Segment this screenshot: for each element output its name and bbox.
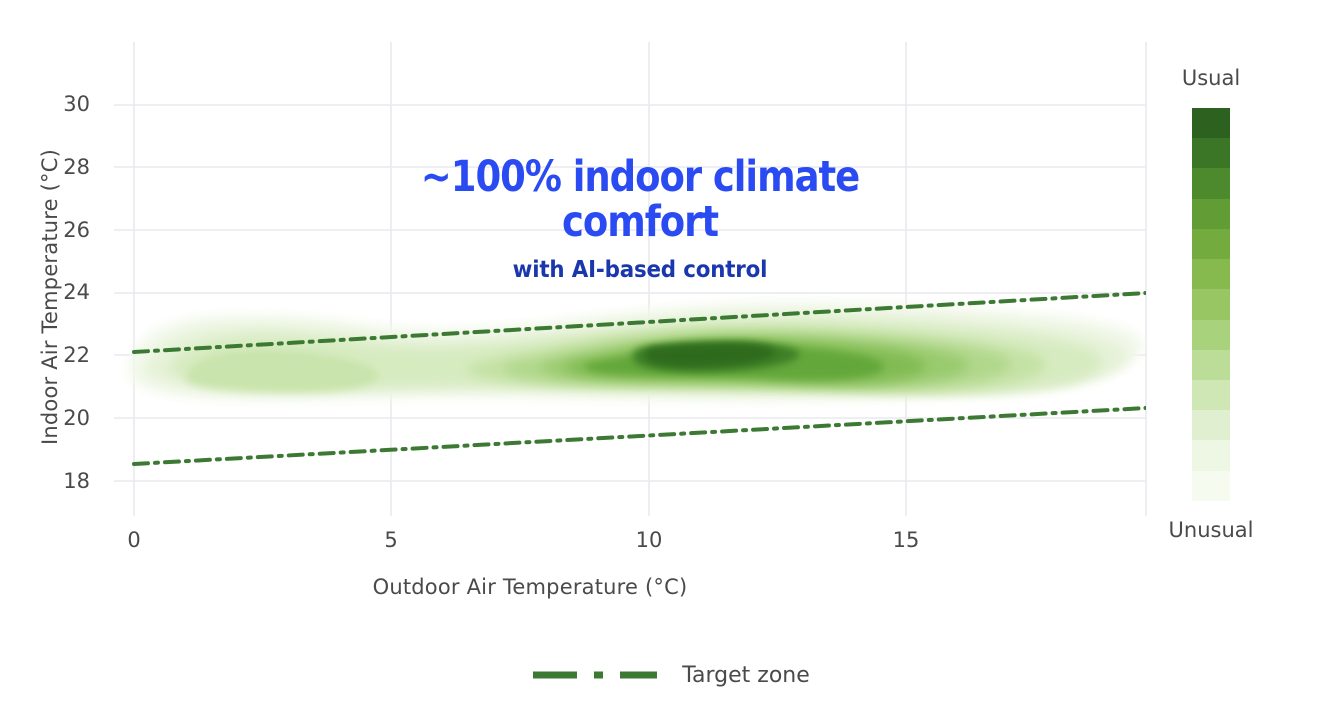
grid-lines [114,42,1146,516]
colorbar-band-4 [1192,199,1230,229]
x-tick-label-5: 5 [366,528,416,552]
target-zone-legend-swatch [530,668,660,682]
x-tick-label-10: 10 [624,528,674,552]
y-tick-label-24: 24 [40,280,90,304]
colorbar-top-label: Usual [1121,66,1301,90]
y-tick-label-26: 26 [40,218,90,242]
target-zone-lower-line [134,408,1146,464]
colorbar-band-9 [1192,350,1230,380]
colorbar-gradient-bar [1192,108,1230,501]
colorbar-band-3 [1192,168,1230,198]
colorbar-band-7 [1192,289,1230,319]
colorbar-band-6 [1192,259,1230,289]
y-tick-label-18: 18 [40,469,90,493]
y-tick-label-28: 28 [40,155,90,179]
y-tick-label-30: 30 [40,92,90,116]
x-tick-label-0: 0 [109,528,159,552]
legend-label-target-zone: Target zone [682,663,810,688]
colorbar-bottom-label: Unusual [1121,518,1301,542]
colorbar-band-10 [1192,380,1230,410]
colorbar-band-13 [1192,471,1230,501]
colorbar-band-1 [1192,108,1230,138]
density-contours [129,302,1143,401]
x-tick-label-15: 15 [881,528,931,552]
y-tick-label-22: 22 [40,343,90,367]
colorbar: Usual Unusual [1140,40,1339,560]
colorbar-band-2 [1192,138,1230,168]
plot-area [0,0,1339,717]
colorbar-band-12 [1192,440,1230,470]
density-chart-figure: Indoor Air Temperature (°C) 30 28 26 24 … [0,0,1339,717]
x-axis-title: Outdoor Air Temperature (°C) [280,575,780,599]
y-tick-label-20: 20 [40,406,90,430]
chart-legend: Target zone [450,650,890,700]
colorbar-band-5 [1192,229,1230,259]
colorbar-band-11 [1192,410,1230,440]
colorbar-band-8 [1192,320,1230,350]
